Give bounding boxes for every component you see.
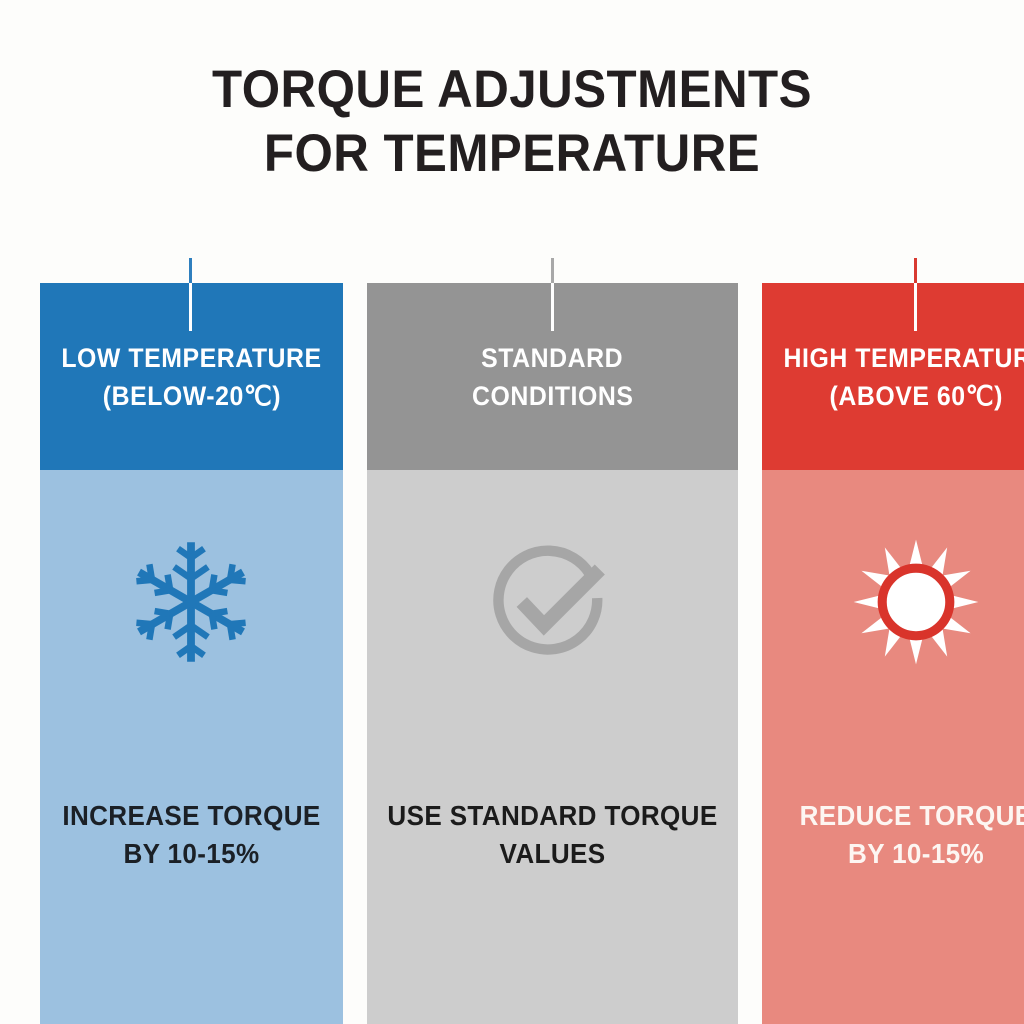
- check-circle-icon: [488, 537, 618, 667]
- panel-standard-conditions: STANDARD CONDITIONS USE STANDARD TORQUE …: [367, 283, 738, 1024]
- panel-caption-low: INCREASE TORQUE BY 10-15%: [40, 797, 343, 873]
- temperature-columns: LOW TEMPERATURE (BELOW-20℃): [40, 258, 985, 1024]
- panel-header-high: HIGH TEMPERATURE (ABOVE 60℃): [762, 283, 1024, 470]
- connector-line-standard: [551, 258, 554, 283]
- panel-caption-high-line-2: BY 10-15%: [780, 835, 1024, 873]
- connector-line-low: [189, 258, 192, 283]
- connector-line-high-inner: [914, 283, 917, 331]
- panel-header-low-line-2: (BELOW-20℃): [102, 377, 280, 415]
- panel-header-low-line-1: LOW TEMPERATURE: [61, 339, 321, 377]
- panel-header-high-line-2: (ABOVE 60℃): [829, 377, 1002, 415]
- column-high-temperature[interactable]: HIGH TEMPERATURE (ABOVE 60℃): [762, 258, 1024, 1024]
- panel-low-temperature: LOW TEMPERATURE (BELOW-20℃): [40, 283, 343, 1024]
- panel-high-temperature: HIGH TEMPERATURE (ABOVE 60℃): [762, 283, 1024, 1024]
- column-standard-conditions[interactable]: STANDARD CONDITIONS USE STANDARD TORQUE …: [367, 258, 738, 1024]
- panel-caption-high-line-1: REDUCE TORQUE: [780, 797, 1024, 835]
- panel-caption-standard: USE STANDARD TORQUE VALUES: [367, 797, 738, 873]
- connector-line-low-inner: [189, 283, 192, 331]
- page-title-line-1: TORQUE ADJUSTMENTS: [36, 58, 988, 122]
- panel-caption-standard-line-2: VALUES: [387, 835, 717, 873]
- panel-header-standard-line-1: STANDARD: [482, 339, 624, 377]
- column-low-temperature[interactable]: LOW TEMPERATURE (BELOW-20℃): [40, 258, 343, 1024]
- panel-header-standard-line-2: CONDITIONS: [472, 377, 633, 415]
- panel-body-high: REDUCE TORQUE BY 10-15%: [762, 470, 1024, 1024]
- page-title-line-2: FOR TEMPERATURE: [36, 122, 988, 186]
- snowflake-icon: [126, 537, 256, 667]
- panel-header-high-line-1: HIGH TEMPERATURE: [784, 339, 1024, 377]
- panel-caption-low-line-1: INCREASE TORQUE: [58, 797, 325, 835]
- panel-caption-standard-line-1: USE STANDARD TORQUE: [387, 797, 717, 835]
- panel-body-low: INCREASE TORQUE BY 10-15%: [40, 470, 343, 1024]
- panel-caption-high: REDUCE TORQUE BY 10-15%: [762, 797, 1024, 873]
- connector-line-high: [914, 258, 917, 283]
- panel-caption-low-line-2: BY 10-15%: [58, 835, 325, 873]
- connector-line-standard-inner: [551, 283, 554, 331]
- sun-icon: [851, 537, 981, 667]
- panel-body-standard: USE STANDARD TORQUE VALUES: [367, 470, 738, 1024]
- page-title: TORQUE ADJUSTMENTS FOR TEMPERATURE: [0, 58, 1024, 186]
